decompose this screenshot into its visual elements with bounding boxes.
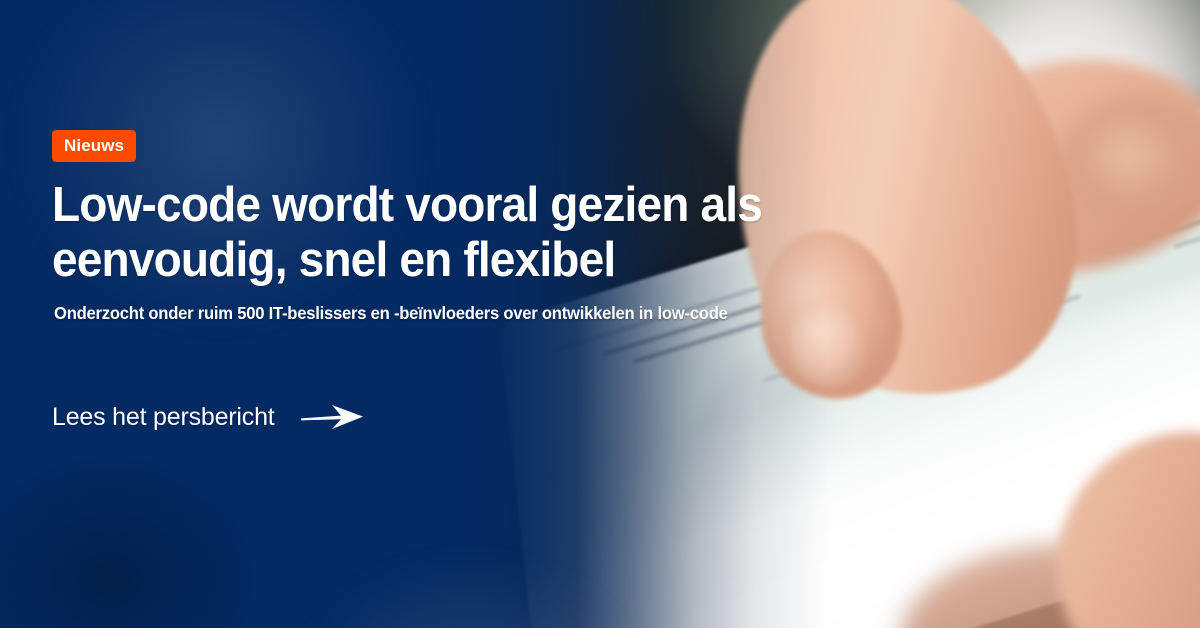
arrow-right-icon [301, 402, 365, 432]
banner-content: Nieuws Low-code wordt vooral gezien als … [52, 0, 792, 628]
status-badge: Nieuws [52, 130, 136, 162]
read-press-release-link[interactable]: Lees het persbericht [52, 402, 365, 432]
news-banner: Nieuws Low-code wordt vooral gezien als … [0, 0, 1200, 628]
cta-label: Lees het persbericht [52, 405, 275, 430]
page-subtitle: Onderzocht onder ruim 500 IT-beslissers … [54, 303, 795, 325]
page-title: Low-code wordt vooral gezien als eenvoud… [52, 178, 766, 288]
